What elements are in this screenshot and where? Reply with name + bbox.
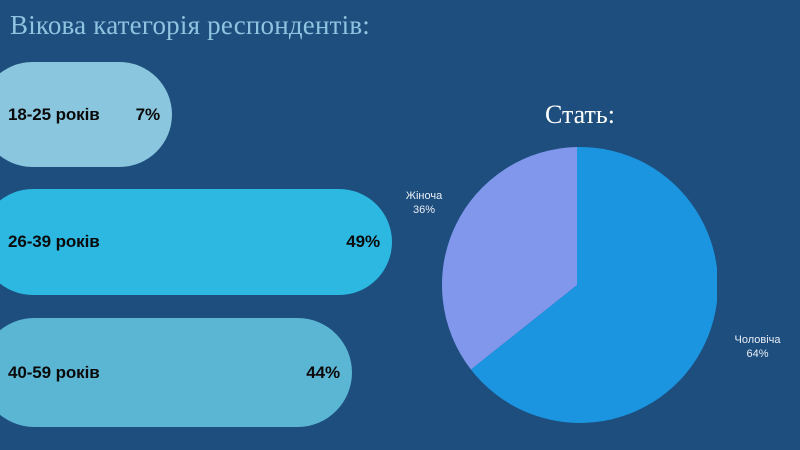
- bar-chart: Вікова категорія респондентів: 18-25 рок…: [0, 0, 400, 450]
- pie-callout-male: Чоловіча 64%: [715, 334, 800, 361]
- pie-callout-male-value: 64%: [715, 348, 800, 362]
- slide-canvas: Вікова категорія респондентів: 18-25 рок…: [0, 0, 800, 450]
- pie-chart: Стать: Жіноча 36% Чоловіча 64%: [400, 0, 800, 450]
- bar-value-label: 44%: [306, 363, 340, 383]
- bar-value-label: 49%: [346, 232, 380, 252]
- bar-text-group: 40-59 років 44%: [8, 363, 340, 383]
- bar-category-label: 18-25 років: [8, 105, 100, 125]
- bar-row: 26-39 років 49%: [0, 189, 392, 295]
- bar-category-label: 40-59 років: [8, 363, 100, 383]
- bar-row: 40-59 років 44%: [0, 318, 352, 427]
- bar-category-label: 26-39 років: [8, 232, 100, 252]
- bar-value-label: 7%: [136, 105, 160, 125]
- pie-chart-title: Стать:: [450, 100, 710, 130]
- pie-callout-female-value: 36%: [379, 204, 469, 218]
- bar-text-group: 26-39 років 49%: [8, 232, 380, 252]
- pie-callout-female: Жіноча 36%: [379, 190, 469, 217]
- bar-row: 18-25 років 7%: [0, 62, 172, 167]
- bar-text-group: 18-25 років 7%: [8, 105, 160, 125]
- page-title: Вікова категорія респондентів:: [10, 9, 370, 41]
- pie-callout-female-label: Жіноча: [379, 190, 469, 204]
- pie-graphic: [437, 145, 717, 425]
- pie-callout-male-label: Чоловіча: [715, 334, 800, 348]
